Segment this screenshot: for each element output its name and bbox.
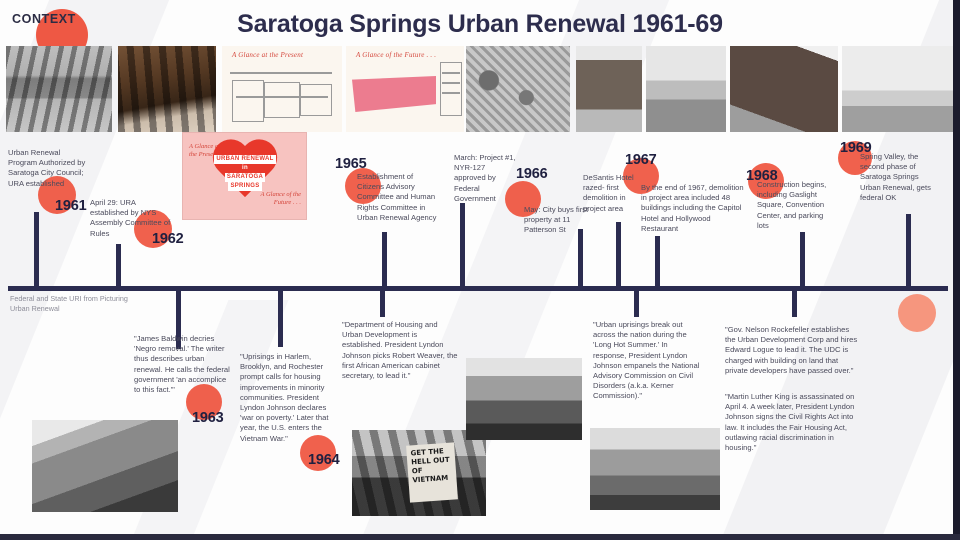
photo-broadway-street-bw — [6, 46, 112, 132]
event-text-1963: "James Baldwin decries 'Negro removal.' … — [134, 334, 230, 395]
photo-brick-building-bw — [576, 46, 642, 132]
photo-anti-war-protest: GET THE HELL OUT OF VIETNAM — [352, 430, 486, 516]
map-caption-present: A Glance at the Present — [222, 46, 342, 59]
timeline-stem-1964 — [278, 291, 283, 347]
event-text-mlk-civil-rights-act: "Martin Luther King is assassinated on A… — [725, 392, 859, 453]
photo-cleared-lot-bw — [646, 46, 726, 132]
brochure-heart-text: URBAN RENEWAL in SARATOGA SPRINGS — [211, 155, 279, 191]
timeline-stem-1967-b — [655, 236, 660, 288]
context-label: CONTEXT — [12, 12, 76, 26]
photo-glance-at-present-map: A Glance at the Present — [222, 46, 342, 132]
year-label-1967: 1967 — [625, 152, 656, 168]
map-caption-future: A Glance of the Future . . . — [346, 46, 464, 59]
protest-sign-text: GET THE HELL OUT OF VIETNAM — [406, 442, 458, 502]
brochure-script-bottom: A Glance of the Future . . . — [245, 191, 301, 207]
photo-house-demolition — [32, 420, 178, 512]
brochure-heart-line2: in — [242, 165, 248, 171]
timeline-stem-1969 — [906, 214, 911, 288]
event-text-1967-a: DeSantis Hotel razed- first demolition i… — [583, 173, 639, 214]
year-label-1961: 1961 — [55, 198, 86, 214]
photo-urban-uprising — [466, 358, 582, 440]
slide-canvas: CONTEXT Saratoga Springs Urban Renewal 1… — [0, 0, 960, 540]
brochure-heart-line3: SARATOGA — [225, 173, 265, 182]
year-label-1962: 1962 — [152, 231, 183, 247]
event-text-1969: Spring Valley, the second phase of Sarat… — [860, 152, 936, 203]
timeline-axis — [8, 286, 948, 291]
event-text-1967-b: By the end of 1967, demolition in projec… — [641, 183, 745, 234]
timeline-stem-1961 — [34, 212, 39, 288]
timeline-stem-1965 — [382, 232, 387, 288]
event-text-1961: Urban Renewal Program Authorized by Sara… — [8, 148, 88, 189]
event-text-1968: Construction begins, including Gaslight … — [757, 180, 829, 231]
year-label-1963: 1963 — [192, 410, 223, 426]
event-text-hud-established: "Department of Housing and Urban Develop… — [342, 320, 458, 381]
timeline-stem-udc — [792, 291, 797, 317]
photo-glance-of-future-map: A Glance of the Future . . . — [346, 46, 464, 132]
photo-aerial-project-area — [466, 46, 570, 132]
event-text-1965: Establishment of Citizens Advisory Commi… — [357, 172, 441, 223]
urban-renewal-heart-brochure: A Glance at the Present URBAN RENEWAL in… — [182, 132, 307, 220]
end-accent-dot — [898, 294, 936, 332]
bottom-edge-bar — [0, 534, 960, 540]
right-edge-bar — [953, 0, 960, 540]
brochure-heart-line4: SPRINGS — [228, 182, 261, 191]
photo-strip: A Glance at the Present A Glance of the … — [0, 46, 960, 132]
event-text-rockefeller-udc: "Gov. Nelson Rockefeller establishes the… — [725, 325, 859, 376]
timeline-stem-1967-a — [616, 222, 621, 288]
timeline-stem-1966-a — [460, 203, 465, 288]
event-text-1964: "Uprisings in Harlem, Brooklyn, and Roch… — [240, 352, 338, 444]
photo-corner-hotel-building — [730, 46, 838, 132]
page-title: Saratoga Springs Urban Renewal 1961-69 — [0, 10, 960, 39]
event-text-1966-a: March: Project #1, NYR-127 approved by F… — [454, 153, 518, 204]
brochure-heart-line1: URBAN RENEWAL — [214, 155, 275, 164]
event-text-urban-uprisings: "Urban uprisings break out across the na… — [593, 320, 703, 402]
year-label-1965: 1965 — [335, 156, 366, 172]
year-label-1966: 1966 — [516, 166, 547, 182]
source-note: Federal and State URI from Picturing Urb… — [10, 294, 130, 313]
timeline-stem-1962 — [116, 244, 121, 288]
year-label-1964: 1964 — [308, 452, 339, 468]
timeline-stem-1968 — [800, 232, 805, 288]
timeline-stem-hud — [380, 291, 385, 317]
photo-modern-strip-development — [842, 46, 954, 132]
timeline-stem-1966-b — [578, 229, 583, 288]
photo-sepia-street-scene — [118, 46, 216, 132]
photo-bill-signing — [590, 428, 720, 510]
timeline-stem-kerner — [634, 291, 639, 317]
